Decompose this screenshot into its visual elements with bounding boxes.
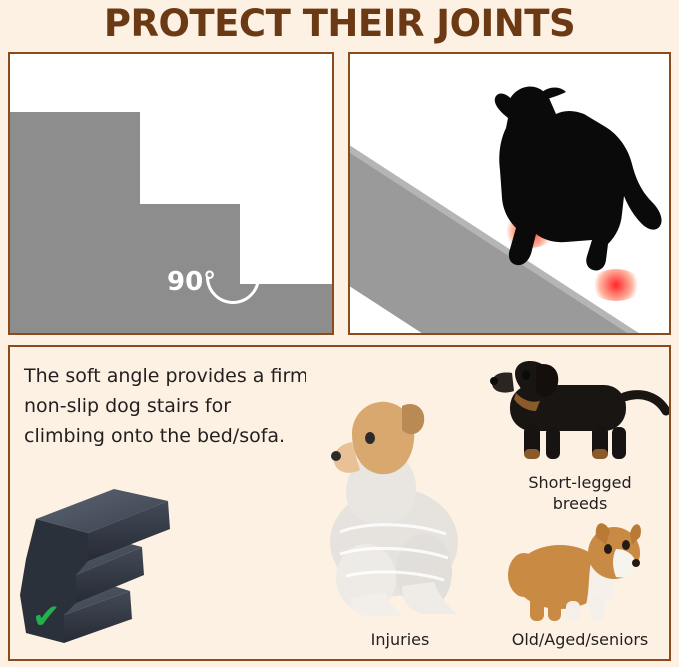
infographic-page: PROTECT THEIR JOINTS 90° ✘ Difficulty of… — [0, 0, 679, 667]
angle-label: 90° — [167, 267, 216, 297]
corgi-image — [504, 519, 664, 625]
product-description: The soft angle provides a firm, non-slip… — [24, 361, 354, 451]
stair-step-upper — [10, 112, 140, 212]
panel-slippery-easy-to-fall: ✘ Slippery, easy to fall — [348, 52, 671, 335]
product-description-line-1: The soft angle provides a firm, — [24, 361, 354, 391]
panel-product-solution: The soft angle provides a firm, non-slip… — [8, 345, 671, 661]
panel-difficulty-of-climbing: 90° ✘ Difficulty of climbing — [8, 52, 334, 335]
injured-dog-image — [306, 372, 482, 624]
label-injuries: Injuries — [310, 629, 490, 650]
label-short-legged-line-2: breeds — [480, 493, 671, 514]
page-title: PROTECT THEIR JOINTS — [0, 2, 679, 45]
label-old-aged-seniors: Old/Aged/seniors — [480, 629, 671, 650]
product-description-line-3: climbing onto the bed/sofa. — [24, 421, 354, 451]
check-icon: ✔ — [32, 600, 61, 634]
label-short-legged-breeds: Short-legged breeds — [480, 472, 671, 514]
dachshund-image — [466, 357, 671, 469]
label-short-legged-line-1: Short-legged — [480, 472, 671, 493]
dog-silhouette-image — [446, 74, 671, 294]
product-description-line-2: non-slip dog stairs for — [24, 391, 354, 421]
